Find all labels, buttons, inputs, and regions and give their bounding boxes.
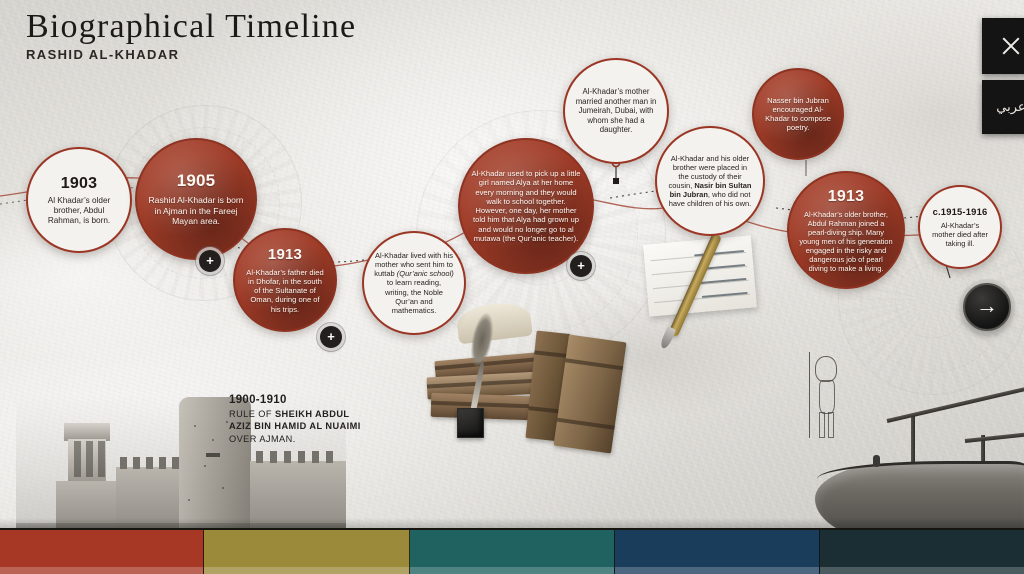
segment-red[interactable]	[0, 530, 204, 574]
plus-icon: +	[577, 259, 585, 272]
plus-icon: +	[206, 254, 214, 267]
caption-line1-bold: SHEIKH ABDUL	[275, 409, 349, 419]
plus-icon: +	[327, 330, 335, 343]
timeline-node-poetry[interactable]: Nasser bin Jubran encouraged Al-Khadar t…	[752, 68, 844, 160]
expand-node-button-2[interactable]: +	[320, 326, 342, 348]
node-year: c.1915-1916	[933, 206, 988, 217]
segment-navy[interactable]	[615, 530, 820, 574]
node-text: Al-Khadar’s father died in Dhofar, in th…	[245, 268, 325, 314]
segment-darkteal[interactable]	[820, 530, 1024, 574]
node-text: Al-Khadar’s mother died after taking ill…	[930, 221, 990, 248]
node-text: Al-Khadar’s older brother, Abdul Rahman …	[799, 210, 893, 273]
page-title-block: Biographical Timeline RASHID AL-KHADAR	[26, 8, 356, 62]
node-year: 1913	[268, 246, 302, 264]
timeline-node-1913-pearl-diving[interactable]: 1913 Al-Khadar’s older brother, Abdul Ra…	[787, 171, 905, 289]
node-text: Al-Khadar lived with his mother who sent…	[374, 251, 454, 315]
caption-line3: OVER AJMAN.	[229, 434, 296, 444]
caption-line2-bold: AZIZ BIN HAMID AL NUAIMI	[229, 421, 361, 431]
timeline-node-cousin-custody[interactable]: Al-Khadar and his older brother were pla…	[655, 126, 765, 236]
segment-teal[interactable]	[410, 530, 615, 574]
node-text: Al-Khadar used to pick up a little girl …	[470, 169, 582, 243]
timeline-node-1905[interactable]: 1905 Rashid Al-Khadar is born in Ajman i…	[135, 138, 257, 260]
language-label: عربي	[996, 99, 1024, 115]
expand-node-button-3[interactable]: +	[570, 255, 592, 277]
timeline-node-kuttab[interactable]: Al-Khadar lived with his mother who sent…	[362, 231, 466, 335]
timeline-node-1903[interactable]: 1903 Al Khadar’s older brother, Abdul Ra…	[26, 147, 132, 253]
colorbar-shadow	[0, 518, 1024, 528]
page-subtitle: RASHID AL-KHADAR	[26, 47, 356, 62]
color-bar	[0, 528, 1024, 574]
timeline-node-alya[interactable]: Al-Khadar used to pick up a little girl …	[458, 138, 594, 274]
node-year: 1905	[177, 171, 216, 192]
node-text: Rashid Al-Khadar is born in Ajman in the…	[147, 195, 245, 226]
node-year: 1913	[828, 187, 864, 207]
next-button[interactable]: →	[963, 283, 1011, 331]
caption-text: RULE OF SHEIKH ABDUL AZIZ BIN HAMID AL N…	[229, 408, 379, 445]
caption-years: 1900-1910	[229, 394, 379, 406]
language-arabic-button[interactable]: عربي	[982, 80, 1024, 134]
arrow-right-icon: →	[976, 295, 998, 317]
timeline-node-mother-remarried[interactable]: Al-Khadar’s mother married another man i…	[563, 58, 669, 164]
segment-olive[interactable]	[204, 530, 410, 574]
timeline-node-1913-father[interactable]: 1913 Al-Khadar’s father died in Dhofar, …	[233, 228, 337, 332]
expand-node-button-1[interactable]: +	[199, 250, 221, 272]
node-text: Al-Khadar’s mother married another man i…	[575, 87, 657, 135]
caption-line1: RULE OF	[229, 409, 275, 419]
close-button[interactable]	[982, 18, 1024, 74]
node-text: Nasser bin Jubran encouraged Al-Khadar t…	[764, 96, 832, 133]
node-text: Al Khadar’s older brother, Abdul Rahman,…	[38, 196, 120, 226]
page-title: Biographical Timeline	[26, 8, 356, 46]
node-year: 1903	[61, 174, 97, 194]
timeline-node-1915-1916[interactable]: c.1915-1916 Al-Khadar’s mother died afte…	[918, 185, 1002, 269]
timeline-stage: Biographical Timeline RASHID AL-KHADAR 1…	[0, 0, 1024, 574]
close-icon	[1000, 35, 1022, 57]
books-illustration	[415, 300, 630, 455]
node-text: Al-Khadar and his older brother were pla…	[667, 154, 753, 209]
reign-caption: 1900-1910 RULE OF SHEIKH ABDUL AZIZ BIN …	[229, 394, 379, 445]
